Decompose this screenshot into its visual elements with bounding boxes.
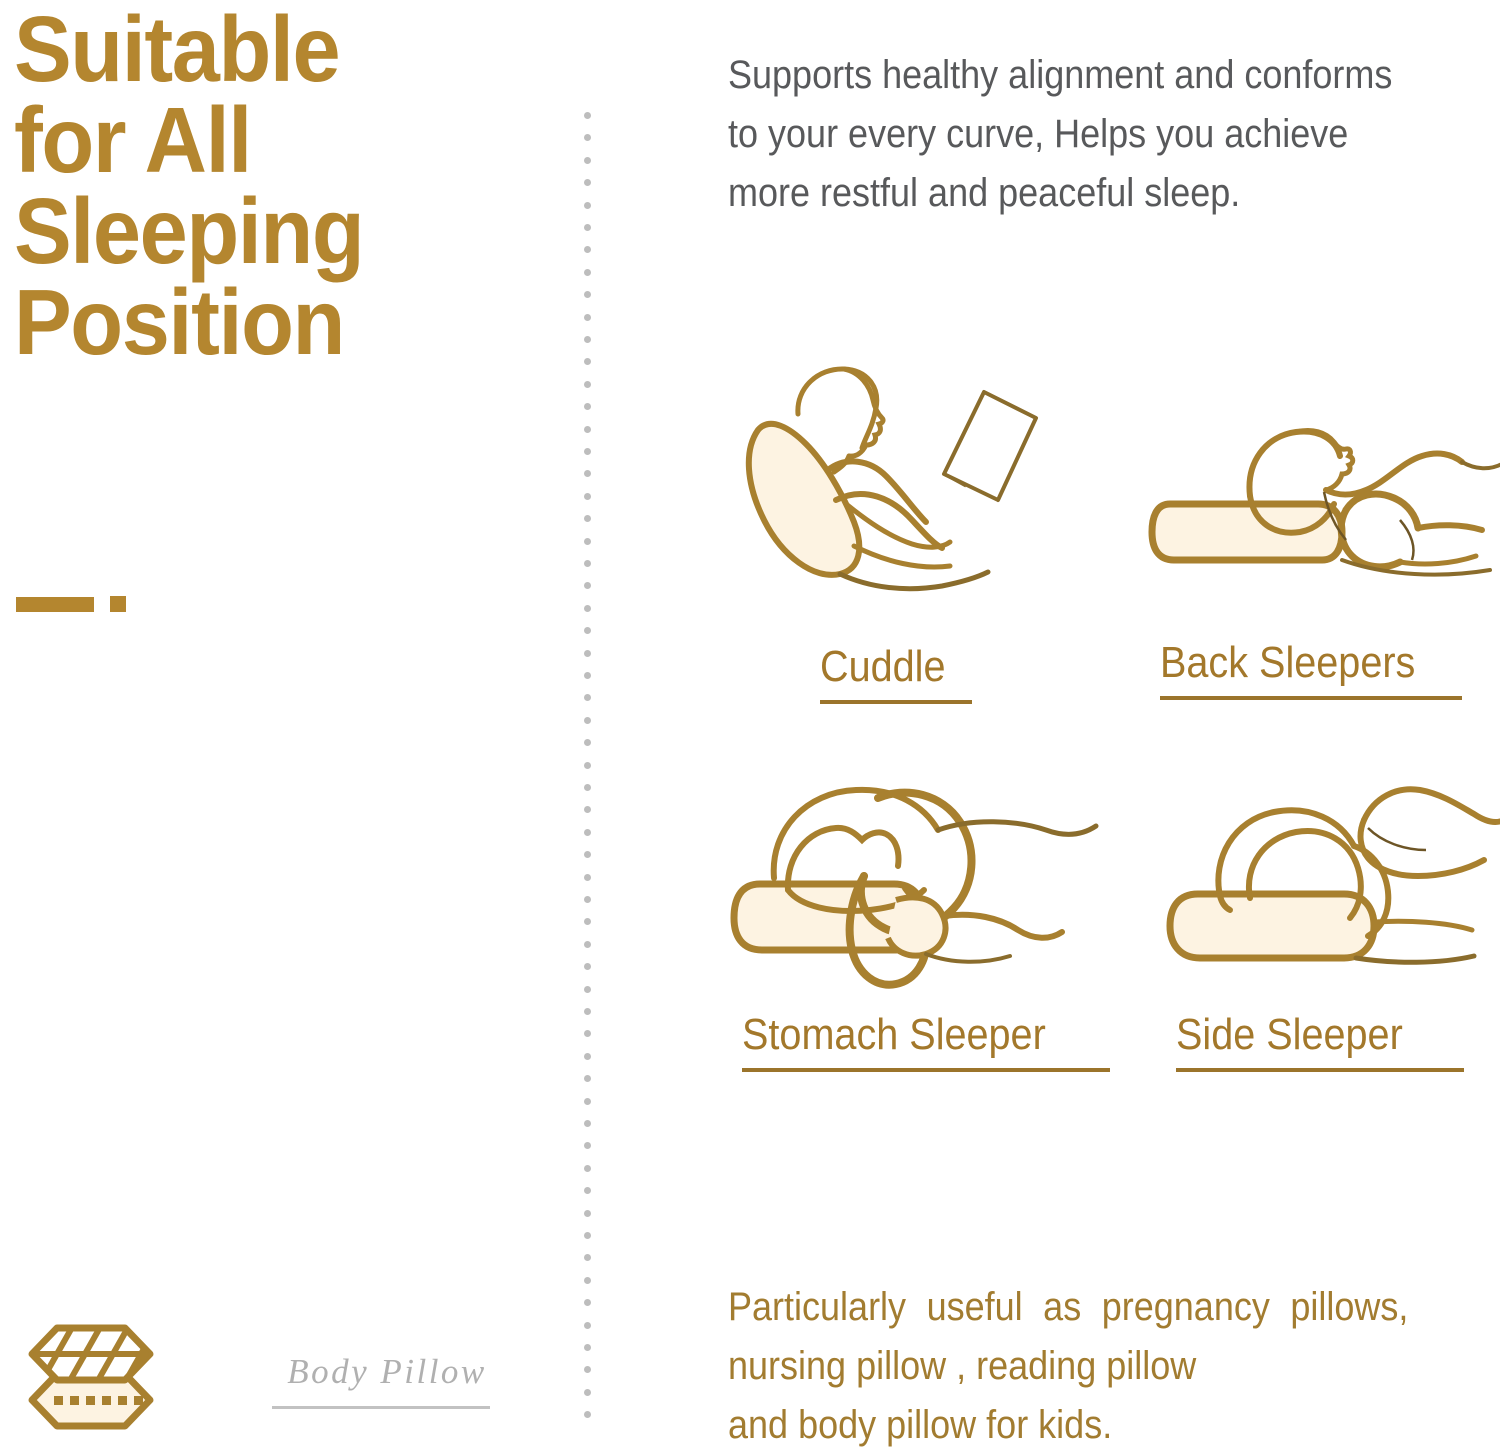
divider-dot [584, 986, 591, 993]
page-title: Suitable for All Sleeping Position [14, 4, 498, 369]
position-label-underline-stomach-sleeper [742, 1068, 1110, 1072]
divider-dot [584, 694, 591, 701]
infographic-page: Suitable for All Sleeping Position [0, 0, 1500, 1443]
divider-dot [584, 762, 591, 769]
divider-dot [584, 1165, 591, 1172]
brand-underline [272, 1406, 490, 1409]
divider-dot [584, 134, 591, 141]
position-card-stomach-sleeper: Stomach Sleeper [728, 772, 1128, 1122]
page-title-line-4: Position [14, 277, 498, 368]
position-label-side-sleeper: Side Sleeper [1176, 1010, 1403, 1060]
divider-dot [584, 1120, 591, 1127]
divider-dot [584, 358, 591, 365]
divider-dot [584, 1142, 591, 1149]
divider-dot [584, 1411, 591, 1418]
person-lying-on-side-icon [1168, 772, 1500, 1002]
divider-dot [584, 224, 591, 231]
divider-dot [584, 112, 591, 119]
divider-dot [584, 1322, 591, 1329]
divider-dot [584, 269, 591, 276]
outro-paragraph: Particularly useful as pregnancy pillows… [728, 1278, 1408, 1456]
pillow-logo-icon [26, 1322, 156, 1432]
accent-dash-square [110, 596, 126, 612]
divider-dot [584, 381, 591, 388]
divider-dot [584, 560, 591, 567]
divider-dot [584, 1187, 591, 1194]
outro-paragraph-last-line: and body pillow for kids. [728, 1396, 1408, 1455]
page-title-line-3: Sleeping [14, 186, 498, 277]
divider-dot [584, 806, 591, 813]
divider-dot [584, 784, 591, 791]
divider-dot [584, 1030, 591, 1037]
divider-dot [584, 1075, 591, 1082]
position-label-underline-back-sleepers [1160, 696, 1462, 700]
divider-dot [584, 605, 591, 612]
brand-lockup: Body Pillow [0, 1322, 560, 1442]
title-accent-dashes [16, 596, 126, 612]
divider-dot [584, 426, 591, 433]
person-lying-on-back-icon [1150, 400, 1500, 630]
divider-dot [584, 291, 591, 298]
divider-dot [584, 739, 591, 746]
divider-dot [584, 829, 591, 836]
divider-dot [584, 672, 591, 679]
person-lying-on-stomach-icon [728, 772, 1128, 1002]
divider-dot [584, 515, 591, 522]
left-column: Suitable for All Sleeping Position [0, 0, 560, 1443]
divider-dot [584, 314, 591, 321]
divider-dot [584, 1232, 591, 1239]
outro-paragraph-main: Particularly useful as pregnancy pillows… [728, 1285, 1408, 1388]
divider-dot [584, 963, 591, 970]
divider-dot [584, 918, 591, 925]
divider-dot [584, 1389, 591, 1396]
position-card-back-sleepers: Back Sleepers [1150, 400, 1500, 750]
divider-dot [584, 627, 591, 634]
page-title-line-2: for All [14, 95, 498, 186]
divider-dot [584, 941, 591, 948]
right-column: Supports healthy alignment and conforms … [728, 0, 1488, 1443]
divider-dot [584, 717, 591, 724]
divider-dot [584, 1053, 591, 1060]
divider-dot [584, 896, 591, 903]
divider-dot [584, 179, 591, 186]
divider-dot [584, 874, 591, 881]
divider-dot [584, 1254, 591, 1261]
divider-dot [584, 1210, 591, 1217]
divider-dot [584, 470, 591, 477]
position-label-cuddle: Cuddle [820, 642, 945, 692]
divider-dot [584, 851, 591, 858]
position-label-stomach-sleeper: Stomach Sleeper [742, 1010, 1046, 1060]
divider-dot [584, 336, 591, 343]
vertical-dotted-divider [584, 112, 593, 1432]
divider-dot [584, 1299, 591, 1306]
divider-dot [584, 650, 591, 657]
divider-dot [584, 448, 591, 455]
divider-dot [584, 1098, 591, 1105]
position-label-underline-side-sleeper [1176, 1068, 1464, 1072]
divider-dot [584, 582, 591, 589]
divider-dot [584, 1008, 591, 1015]
accent-dash-long [16, 597, 94, 612]
position-label-underline-cuddle [820, 700, 972, 704]
brand-name: Body Pillow [272, 1352, 502, 1392]
divider-dot [584, 246, 591, 253]
position-card-cuddle: Cuddle [736, 352, 1076, 742]
intro-paragraph: Supports healthy alignment and conforms … [728, 46, 1408, 224]
divider-dot [584, 1344, 591, 1351]
divider-dot [584, 157, 591, 164]
divider-dot [584, 538, 591, 545]
divider-dot [584, 403, 591, 410]
position-card-side-sleeper: Side Sleeper [1168, 772, 1500, 1122]
divider-dot [584, 493, 591, 500]
divider-dot [584, 202, 591, 209]
divider-dot [584, 1366, 591, 1373]
person-reclining-reading-icon [736, 352, 1066, 642]
position-label-back-sleepers: Back Sleepers [1160, 638, 1415, 688]
divider-dot [584, 1277, 591, 1284]
page-title-line-1: Suitable [14, 4, 498, 95]
sleeping-positions-grid: Cuddle [728, 352, 1488, 1112]
